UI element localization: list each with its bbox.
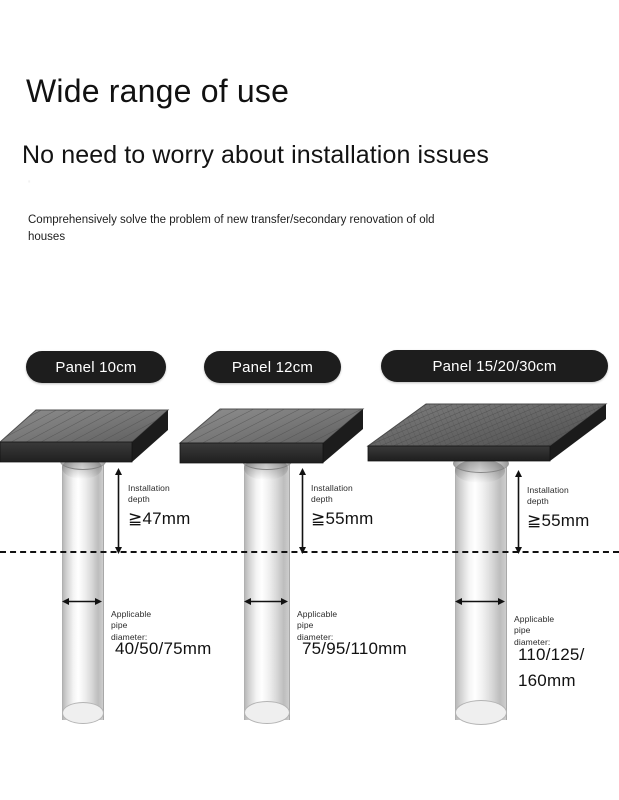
installation-depth-dimension-arrow [113,468,124,554]
installation-depth-value: ≧55mm [311,509,373,529]
pipe-diameter-value: 75/95/110mm [302,639,407,659]
panel-label-10cm: Panel 10cm [26,351,166,383]
pipe-diameter-dimension-arrow [244,596,288,607]
panel-label-12cm: Panel 12cm [204,351,341,383]
panel-label-text: Panel 15/20/30cm [432,358,556,375]
clipped-text-artifact: · [26,172,32,186]
pipe-bottom-cap [455,700,507,725]
pipe-diameter-value: 110/125/ 160mm [518,642,585,695]
infographic-page: Wide range of use No need to worry about… [0,0,619,800]
pipe-diameter-dimension-arrow [455,596,505,607]
floor-level-dashed-line [0,551,619,553]
installation-depth-label: Installation depth [527,485,569,508]
pipe-diameter-dimension-arrow [62,596,102,607]
drain-panel-body [180,407,365,471]
installation-depth-label: Installation depth [311,483,353,506]
drain-panel-body [368,402,608,470]
panel-label-text: Panel 12cm [232,359,313,376]
panel-label-text: Panel 10cm [55,359,136,376]
installation-depth-value: ≧55mm [527,511,589,531]
panel-label-15-20-30cm: Panel 15/20/30cm [381,350,608,382]
installation-depth-dimension-arrow [297,468,308,554]
pipe-cylinder [62,455,104,720]
page-title: Wide range of use [26,74,289,109]
drain-panel-body [0,408,170,470]
pipe-bottom-cap [62,702,104,724]
installation-depth-value: ≧47mm [128,509,190,529]
pipe-cylinder [455,457,507,720]
pipe-bottom-cap [244,701,290,724]
pipe-diameter-value: 40/50/75mm [115,639,212,659]
installation-depth-label: Installation depth [128,483,170,506]
page-description: Comprehensively solve the problem of new… [28,212,458,247]
pipe-cylinder [244,455,290,720]
page-subtitle: No need to worry about installation issu… [22,142,489,170]
installation-depth-dimension-arrow [513,470,524,554]
